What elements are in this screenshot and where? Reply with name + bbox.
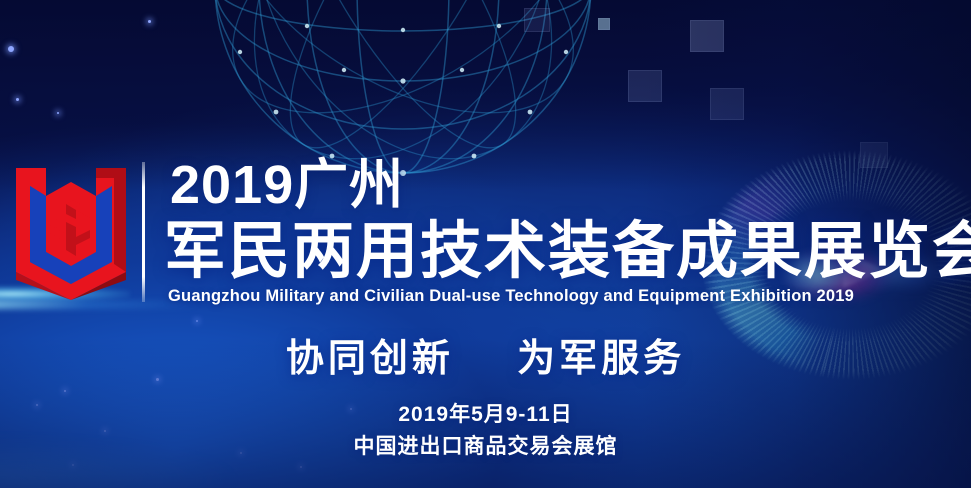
title-divider [142,162,145,302]
title-english-subtitle: Guangzhou Military and Civilian Dual-use… [168,288,854,305]
exhibition-banner: 2019广州 军民两用技术装备成果展览会 Guangzhou Military … [0,0,971,488]
particle-dot [148,20,151,23]
slogan: 协同创新 为军服务 [0,340,971,378]
particle-dot [196,320,198,322]
title-main: 军民两用技术装备成果展览会 [164,221,971,283]
particle-dot [57,112,59,114]
slogan-left: 协同创新 [286,338,454,380]
jm-shield-logo [10,160,132,300]
event-venue: 中国进出口商品交易会展馆 [0,436,971,457]
title-year: 2019广州 [170,158,404,212]
particle-dot [8,46,14,52]
decor-square [524,8,550,32]
particle-dot [16,98,19,101]
slogan-right: 为军服务 [517,338,685,380]
event-date: 2019年5月9-11日 [0,404,971,425]
decor-square [598,18,610,30]
